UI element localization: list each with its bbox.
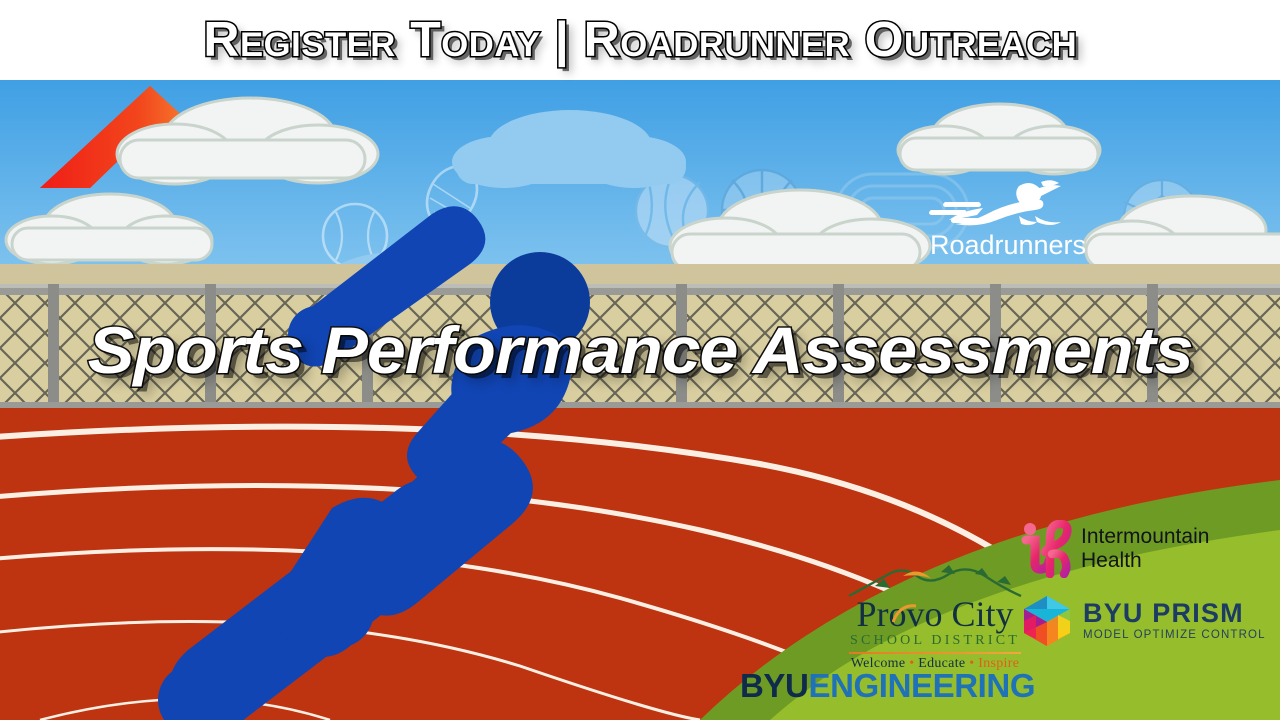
intermountain-wordmark: Intermountain Health bbox=[1081, 525, 1209, 572]
provo-city-school-district-logo: Provo City SCHOOL DISTRICT Welcome • Edu… bbox=[840, 562, 1030, 672]
roadrunners-label: Roadrunners bbox=[918, 230, 1098, 261]
engineering-wordmark: ENGINEERING bbox=[808, 667, 1035, 704]
header-title: Register Today | Roadrunner Outreach bbox=[203, 12, 1077, 68]
byu-prism-logo: BYU PRISM MODEL OPTIMIZE CONTROL bbox=[1020, 594, 1266, 648]
prism-title: BYU PRISM bbox=[1083, 600, 1266, 627]
provo-name-text: Provo City bbox=[856, 594, 1013, 634]
provo-name: Provo City bbox=[840, 596, 1030, 632]
ih-monogram-icon bbox=[1020, 520, 1072, 578]
intermountain-line1: Intermountain bbox=[1081, 525, 1209, 549]
chain-link-fence bbox=[0, 284, 1280, 410]
swoosh-icon bbox=[892, 602, 918, 626]
sponsor-logos: Provo City SCHOOL DISTRICT Welcome • Edu… bbox=[720, 512, 1280, 720]
prism-subtitle: MODEL OPTIMIZE CONTROL bbox=[1083, 630, 1266, 642]
prism-cube-icon bbox=[1020, 594, 1074, 648]
byu-wordmark: BYU bbox=[740, 667, 808, 704]
provo-divider bbox=[849, 652, 1021, 654]
roadrunner-bird-icon bbox=[923, 180, 1093, 232]
provo-subtitle: SCHOOL DISTRICT bbox=[840, 633, 1030, 649]
byu-engineering-logo: BYUENGINEERING bbox=[740, 667, 1035, 705]
intermountain-line2: Health bbox=[1081, 549, 1209, 573]
header-banner: Register Today | Roadrunner Outreach bbox=[0, 0, 1280, 80]
promotional-poster: Register Today | Roadrunner Outreach bbox=[0, 0, 1280, 720]
roadrunners-mascot: Roadrunners bbox=[918, 180, 1098, 268]
prism-wordmark: BYU PRISM MODEL OPTIMIZE CONTROL bbox=[1083, 600, 1266, 642]
intermountain-health-logo: Intermountain Health bbox=[1020, 520, 1209, 578]
